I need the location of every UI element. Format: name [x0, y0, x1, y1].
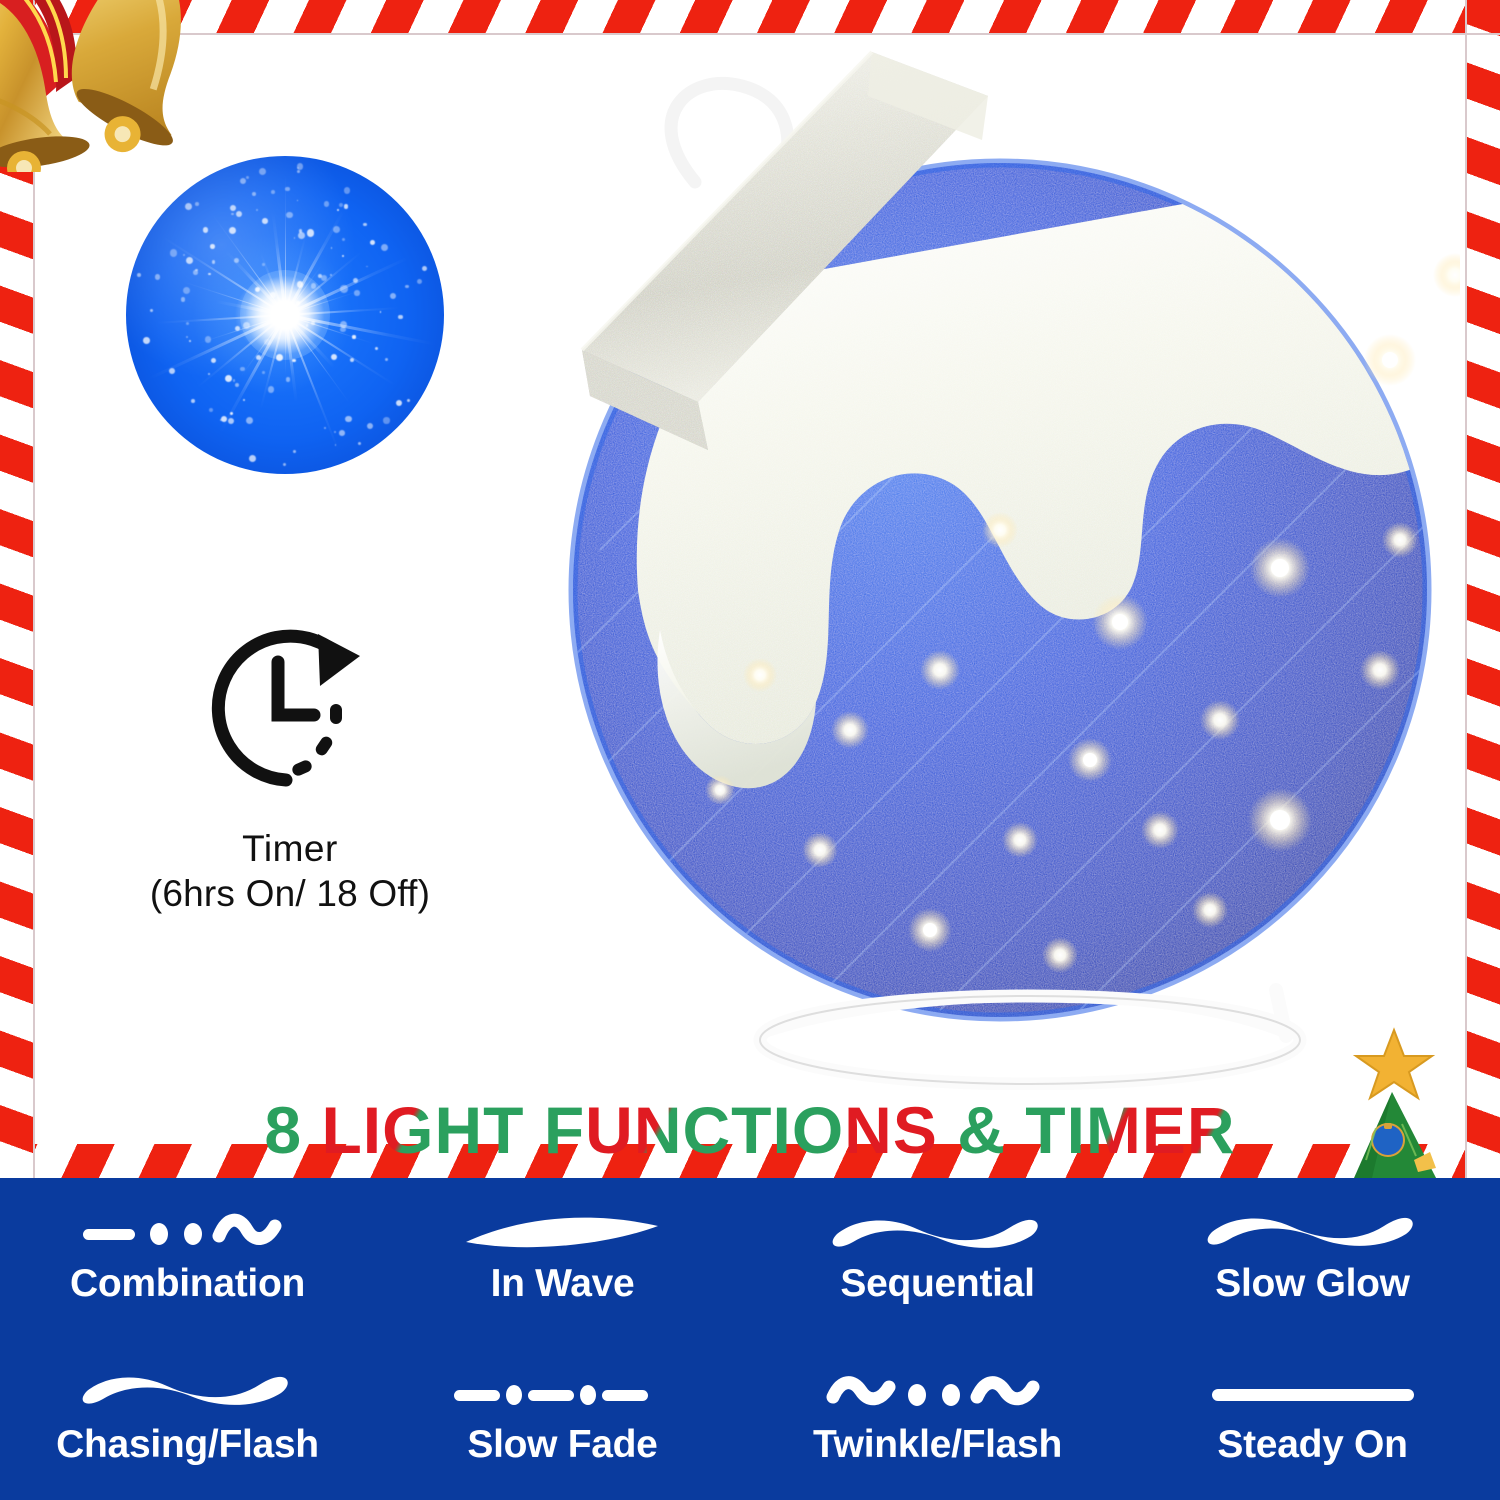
starburst-sparkle	[342, 255, 344, 257]
timer-label-line2: (6hrs On/ 18 Off)	[110, 871, 470, 916]
title-letter-20: T	[1025, 1093, 1066, 1167]
title-letter-14: O	[792, 1093, 844, 1167]
starburst-sparkle	[405, 285, 409, 289]
starburst-sparkle	[396, 400, 403, 407]
starburst-sparkle	[231, 213, 234, 216]
starburst-sparkle	[342, 238, 345, 241]
function-item-twinkle-flash[interactable]: Twinkle/Flash	[750, 1339, 1125, 1500]
starburst-sparkle	[297, 281, 304, 288]
starburst-sparkle	[170, 249, 177, 256]
starburst-sparkle	[330, 274, 332, 276]
starburst-sparkle	[191, 399, 195, 403]
title-letter-15: N	[844, 1093, 893, 1167]
title-letter-0: 8	[264, 1093, 302, 1167]
starburst-sparkle	[246, 417, 253, 424]
starburst-sparkle	[228, 418, 234, 424]
starburst-sparkle	[375, 347, 378, 350]
starburst-sparkle	[398, 315, 403, 320]
starburst-sparkle	[183, 254, 185, 256]
function-label: Slow Fade	[467, 1423, 657, 1467]
starburst-sparkle	[262, 218, 268, 224]
starburst-sparkle	[246, 176, 249, 179]
timer-label-line1: Timer	[110, 826, 470, 871]
starburst-sparkle	[230, 412, 233, 415]
title-letter-18: &	[957, 1093, 1006, 1167]
starburst-sparkle	[333, 226, 340, 233]
starburst-sparkle	[363, 223, 367, 227]
timer-feature: Timer (6hrs On/ 18 Off)	[110, 612, 470, 916]
starburst-sparkle	[370, 240, 375, 245]
starburst-sparkle	[337, 209, 339, 211]
starburst-sparkle	[334, 431, 336, 433]
functions-row-1: Combination In Wave Sequential	[0, 1178, 1500, 1339]
title-letter-12: T	[731, 1093, 772, 1167]
starburst-sparkle	[236, 211, 242, 217]
border-stripe-left	[0, 0, 34, 1178]
starburst-sparkle	[268, 386, 275, 393]
starburst-sparkle	[210, 244, 215, 249]
starburst-sparkle	[345, 416, 352, 423]
function-item-in-wave[interactable]: In Wave	[375, 1178, 750, 1339]
starburst-sparkle	[150, 309, 153, 312]
title-letter-8: F	[544, 1093, 585, 1167]
function-item-slow-glow[interactable]: Slow Glow	[1125, 1178, 1500, 1339]
starburst-sparkle	[390, 293, 396, 299]
starburst-sparkle	[383, 417, 389, 423]
title-letter-3: I	[363, 1093, 382, 1167]
starburst-sparkle	[354, 290, 360, 296]
starburst-sparkle	[186, 257, 193, 264]
title-letter-1	[302, 1093, 321, 1167]
solid-line-icon	[1198, 1373, 1428, 1417]
functions-row-2: Chasing/Flash Slow Fade	[0, 1339, 1500, 1500]
title-letter-5: H	[434, 1093, 483, 1167]
starburst-sparkle	[230, 205, 237, 212]
starburst-sparkle	[256, 355, 261, 360]
title-letter-13: I	[772, 1093, 791, 1167]
starburst-sparkle	[155, 274, 160, 279]
starburst-sparkle	[297, 200, 299, 202]
title-letter-7	[524, 1093, 543, 1167]
starburst-sparkle	[352, 335, 355, 338]
starburst-sparkle	[321, 275, 327, 281]
starburst-sparkle	[259, 168, 266, 175]
starburst-sparkle	[285, 187, 290, 192]
function-label: Chasing/Flash	[56, 1423, 319, 1467]
product-ornament-image	[520, 30, 1460, 1090]
function-item-combination[interactable]: Combination	[0, 1178, 375, 1339]
starburst-sparkle	[286, 377, 290, 381]
starburst-sparkle	[344, 187, 351, 194]
starburst-sparkle	[195, 202, 199, 206]
starburst-sparkle	[270, 292, 276, 298]
starburst-sparkle	[380, 311, 382, 313]
christmas-bells-icon	[0, 0, 236, 172]
starburst-sparkle	[169, 368, 175, 374]
title-letter-4: G	[382, 1093, 434, 1167]
function-label: Steady On	[1217, 1423, 1407, 1467]
starburst-sparkle	[294, 237, 296, 239]
border-stripe-right	[1466, 0, 1500, 1178]
starburst-sparkle	[264, 339, 270, 345]
function-label: In Wave	[491, 1262, 635, 1306]
title-letter-22: M	[1086, 1093, 1142, 1167]
tilde-dot-dot-tilde-icon	[823, 1373, 1053, 1417]
dash-dot-dash-icon	[448, 1373, 678, 1417]
starburst-sparkle	[331, 247, 333, 249]
title-letter-17	[938, 1093, 957, 1167]
starburst-sparkle	[240, 178, 246, 184]
title-letter-9: U	[585, 1093, 634, 1167]
starburst-sparkle	[335, 444, 337, 446]
starburst-sparkle	[211, 358, 216, 363]
starburst-sparkle	[186, 336, 188, 338]
function-item-steady-on[interactable]: Steady On	[1125, 1339, 1500, 1500]
starburst-sparkle	[262, 371, 265, 374]
starburst-sparkle	[286, 212, 292, 218]
starburst-sparkle	[344, 204, 348, 208]
title-letter-23: E	[1142, 1093, 1187, 1167]
function-item-sequential[interactable]: Sequential	[750, 1178, 1125, 1339]
starburst-sparkle	[340, 327, 345, 332]
starburst-sparkle	[298, 232, 305, 239]
starburst-sparkle	[229, 227, 236, 234]
starburst-sparkle	[340, 285, 347, 292]
infographic-canvas: Timer (6hrs On/ 18 Off)	[0, 0, 1500, 1500]
starburst-sparkle	[181, 297, 186, 302]
starburst-sparkle	[293, 450, 296, 453]
starburst-ray	[285, 175, 286, 315]
starburst-sparkle	[186, 322, 189, 325]
border-hairline-left	[33, 0, 35, 1178]
title-letter-24: R	[1187, 1093, 1236, 1167]
starburst-sparkle	[252, 192, 256, 196]
title-letter-19	[1006, 1093, 1025, 1167]
timer-caption: Timer (6hrs On/ 18 Off)	[110, 826, 470, 916]
double-lens-icon	[1198, 1212, 1428, 1256]
starburst-sparkle	[407, 399, 411, 403]
starburst-sparkle	[183, 287, 190, 294]
title-letter-6: T	[483, 1093, 524, 1167]
starburst-sparkle	[283, 463, 286, 466]
function-item-chasing-flash[interactable]: Chasing/Flash	[0, 1339, 375, 1500]
starburst-sparkle	[381, 244, 388, 251]
starburst-sparkle	[324, 201, 329, 206]
starburst-sparkle	[225, 375, 232, 382]
starburst-sparkle	[385, 358, 388, 361]
function-item-slow-fade[interactable]: Slow Fade	[375, 1339, 750, 1500]
function-label: Slow Glow	[1215, 1262, 1409, 1306]
starburst-sparkle	[233, 379, 236, 382]
starburst-sparkle	[185, 203, 192, 210]
starburst-sparkle	[240, 367, 244, 371]
starburst-sparkle	[367, 423, 373, 429]
starburst-sparkle	[262, 263, 265, 266]
starburst-sparkle	[243, 399, 245, 401]
light-functions-panel: Combination In Wave Sequential	[0, 1178, 1500, 1500]
starburst-sparkle	[296, 301, 300, 305]
starburst-sparkle	[366, 266, 368, 268]
starburst-sparkle	[209, 408, 213, 412]
page-title: 8 LIGHT FUNCTIONS & TIMER	[0, 1092, 1500, 1170]
title-letter-10: N	[634, 1093, 683, 1167]
title-letter-16: S	[893, 1093, 938, 1167]
starburst-sparkle	[358, 442, 361, 445]
dash-dot-dot-tilde-icon	[73, 1212, 303, 1256]
starburst-sparkle	[203, 227, 208, 232]
starburst-sparkle	[189, 340, 191, 342]
starburst-sparkle	[256, 209, 258, 211]
starburst-sparkle	[318, 274, 322, 278]
starburst-sparkle	[276, 354, 283, 361]
starburst-sparkle	[271, 190, 275, 194]
starburst-sparkle	[307, 229, 314, 236]
starburst-sparkle	[350, 358, 354, 362]
title-letter-11: C	[682, 1093, 731, 1167]
border-hairline-right	[1465, 0, 1467, 1178]
starburst-sparkle	[324, 427, 327, 430]
starburst-sparkle	[235, 383, 239, 387]
starburst-sparkle	[249, 455, 256, 462]
title-letter-21: I	[1067, 1093, 1086, 1167]
tree-star	[1356, 1030, 1432, 1098]
starburst-sparkle	[339, 203, 343, 207]
starburst-sparkle	[137, 273, 141, 277]
title-letter-2: L	[321, 1093, 362, 1167]
starburst-sparkle	[339, 430, 345, 436]
function-label: Twinkle/Flash	[813, 1423, 1062, 1467]
starburst-sparkle	[331, 354, 337, 360]
starburst-sparkle	[193, 270, 198, 275]
starburst-sparkle	[143, 337, 150, 344]
starburst-sparkle	[297, 170, 300, 173]
function-label: Sequential	[840, 1262, 1034, 1306]
timer-clock-arrow-icon	[190, 612, 390, 812]
starburst-sparkle	[422, 266, 427, 271]
starburst-sparkle	[306, 324, 308, 326]
double-lens-icon	[823, 1212, 1053, 1256]
function-label: Combination	[70, 1262, 305, 1306]
starburst-sparkle	[205, 336, 212, 343]
blue-starburst-light-swatch	[126, 156, 444, 474]
starburst-sparkle	[417, 279, 423, 285]
double-lens-icon	[73, 1373, 303, 1417]
starburst-sparkle	[292, 359, 295, 362]
starburst-sparkle	[212, 260, 216, 264]
starburst-sparkle	[311, 321, 315, 325]
wave-lens-icon	[448, 1212, 678, 1256]
starburst-sparkle	[208, 273, 211, 276]
